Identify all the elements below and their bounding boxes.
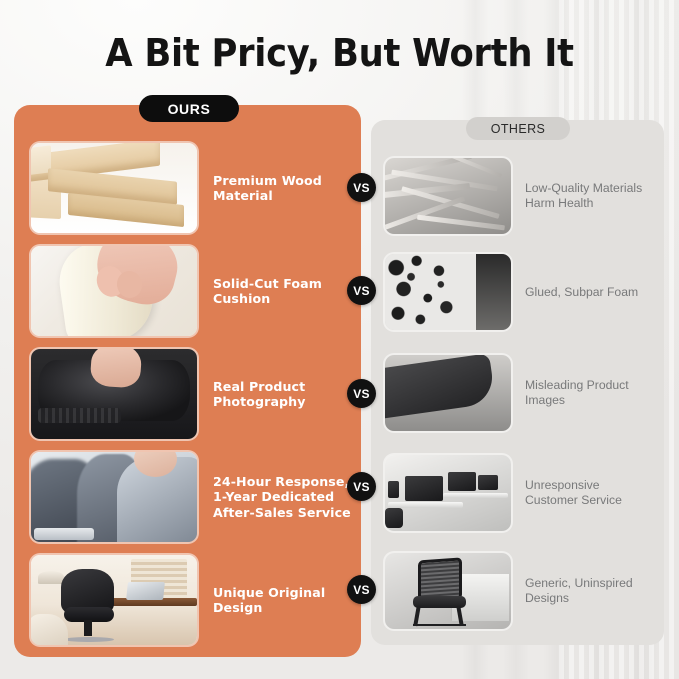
ours-badge: OURS <box>139 95 239 122</box>
generic-mesh-chair-photo <box>385 553 511 629</box>
others-label-4: Unresponsive Customer Service <box>525 478 622 508</box>
vs-badge-5: VS <box>347 575 376 604</box>
home-office-chair-photo <box>31 555 197 645</box>
page-title: A Bit Pricy, But Worth It <box>24 31 655 75</box>
leather-cushion-press-photo <box>31 349 197 439</box>
ours-label-2: Solid-Cut Foam Cushion <box>213 276 322 307</box>
others-row-1: Low-Quality Materials Harm Health <box>385 158 642 234</box>
wood-planks-photo <box>31 143 197 233</box>
ours-row-3: Real Product Photography <box>31 349 306 439</box>
vs-badge-2: VS <box>347 276 376 305</box>
vs-badge-3: VS <box>347 379 376 408</box>
ours-row-4: 24-Hour Response, 1-Year Dedicated After… <box>31 452 351 542</box>
others-row-4: Unresponsive Customer Service <box>385 455 622 531</box>
ours-label-5: Unique Original Design <box>213 585 325 616</box>
others-row-3: Misleading Product Images <box>385 355 629 431</box>
customer-service-agents-photo <box>31 452 197 542</box>
others-label-1: Low-Quality Materials Harm Health <box>525 181 642 211</box>
vs-badge-4: VS <box>347 472 376 501</box>
others-row-5: Generic, Uninspired Designs <box>385 553 633 629</box>
bonded-foam-texture-photo <box>385 254 511 330</box>
others-label-3: Misleading Product Images <box>525 378 629 408</box>
ours-row-2: Solid-Cut Foam Cushion <box>31 246 322 336</box>
others-row-2: Glued, Subpar Foam <box>385 254 638 330</box>
empty-office-desks-photo <box>385 455 511 531</box>
ours-row-5: Unique Original Design <box>31 555 325 645</box>
others-badge: OTHERS <box>466 117 570 140</box>
vs-badge-1: VS <box>347 173 376 202</box>
ours-label-4: 24-Hour Response, 1-Year Dedicated After… <box>213 474 351 521</box>
dark-cushion-render-photo <box>385 355 511 431</box>
scrap-wood-photo <box>385 158 511 234</box>
others-label-2: Glued, Subpar Foam <box>525 285 638 300</box>
ours-label-1: Premium Wood Material <box>213 173 322 204</box>
ours-row-1: Premium Wood Material <box>31 143 322 233</box>
hand-squeezing-foam-photo <box>31 246 197 336</box>
others-label-5: Generic, Uninspired Designs <box>525 576 633 606</box>
ours-label-3: Real Product Photography <box>213 379 306 410</box>
